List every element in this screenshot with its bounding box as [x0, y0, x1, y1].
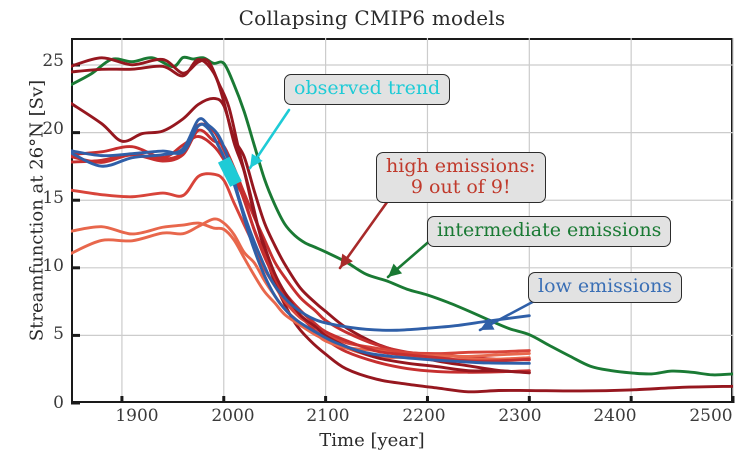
annotation-intermediate-emissions: intermediate emissions: [427, 216, 671, 247]
observed-trend-marker: [224, 160, 236, 184]
xtick-label: 1900: [102, 406, 172, 426]
xtick-label: 2200: [389, 406, 459, 426]
xtick-label: 2400: [580, 406, 650, 426]
xtick-label: 2300: [485, 406, 555, 426]
ytick-label: 0: [24, 393, 64, 413]
x-axis-label: Time [year]: [0, 430, 744, 451]
annotation-observed-trend: observed trend: [284, 74, 450, 105]
annotation-high-emissions: high emissions: 9 out of 9!: [376, 152, 546, 203]
annotation-low-emissions: low emissions: [528, 272, 682, 303]
xtick-label: 2000: [198, 406, 268, 426]
xtick-label: 2100: [293, 406, 363, 426]
xtick-label: 2500: [676, 406, 744, 426]
chart-figure: Collapsing CMIP6 models 1900 2000 2100 2…: [0, 0, 744, 470]
annotation-high-emissions-line2: 9 out of 9!: [386, 177, 536, 198]
y-axis-label: Streamfunction at 26°N [Sv]: [27, 46, 48, 376]
annotation-high-emissions-line1: high emissions:: [386, 156, 536, 177]
